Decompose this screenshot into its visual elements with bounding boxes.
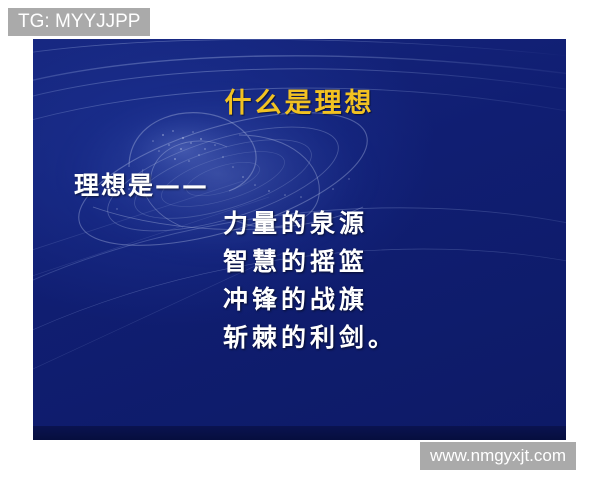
lead-in-text: 理想是—— (74, 166, 209, 202)
verse-line-1: 力量的泉源 (223, 205, 397, 243)
watermark-top-left: TG: MYYJJPP (8, 8, 150, 36)
presentation-slide: 什么是理想 理想是—— 力量的泉源 智慧的摇篮 冲锋的战旗 斩棘的利剑。 (33, 39, 566, 440)
slide-footer-band (33, 426, 566, 440)
slide-title: 什么是理想 (33, 81, 566, 120)
verse-line-3: 冲锋的战旗 (223, 281, 397, 319)
verse-line-4: 斩棘的利剑。 (223, 319, 397, 357)
verse-list: 力量的泉源 智慧的摇篮 冲锋的战旗 斩棘的利剑。 (223, 205, 397, 357)
watermark-bottom-right: www.nmgyxjt.com (420, 442, 576, 470)
verse-line-2: 智慧的摇篮 (223, 243, 397, 281)
